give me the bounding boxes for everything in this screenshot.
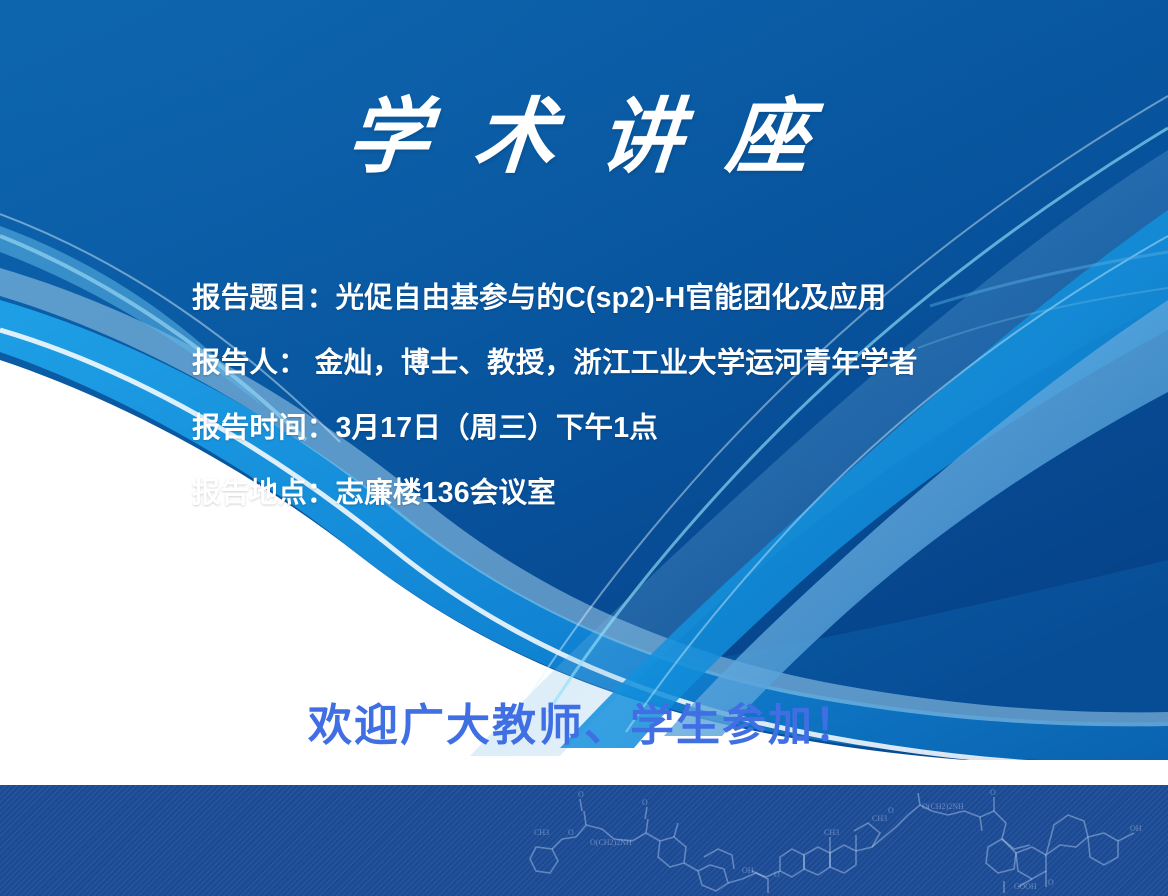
svg-text:O: O bbox=[578, 790, 584, 799]
svg-text:CH3: CH3 bbox=[824, 828, 839, 837]
svg-text:O: O bbox=[774, 870, 780, 879]
svg-text:O(CH2)2NH: O(CH2)2NH bbox=[922, 802, 964, 811]
svg-text:O: O bbox=[990, 788, 996, 797]
svg-text:CH3: CH3 bbox=[534, 828, 549, 837]
seminar-poster: 学 术 讲 座 报告题目：光促自由基参与的C(sp2)-H官能团化及应用 报告人… bbox=[0, 0, 1168, 896]
svg-text:COOH: COOH bbox=[1014, 882, 1037, 891]
page-title: 学 术 讲 座 bbox=[0, 86, 1168, 190]
chemical-structure-icon: CH3 O O O(CH2)2NH O OH O CH3 CH3 O O(CH2… bbox=[528, 785, 1168, 896]
detail-time: 报告时间：3月17日（周三）下午1点 bbox=[192, 407, 1112, 449]
svg-text:OH: OH bbox=[1130, 824, 1142, 833]
detail-topic: 报告题目：光促自由基参与的C(sp2)-H官能团化及应用 bbox=[192, 277, 1112, 319]
svg-text:O: O bbox=[888, 806, 894, 815]
seminar-details: 报告题目：光促自由基参与的C(sp2)-H官能团化及应用 报告人： 金灿，博士、… bbox=[192, 277, 1112, 514]
svg-text:O: O bbox=[642, 798, 648, 807]
detail-location: 报告地点：志廉楼136会议室 bbox=[192, 472, 1112, 514]
svg-text:O(CH2)2NH: O(CH2)2NH bbox=[590, 838, 632, 847]
footer-band: CH3 O O O(CH2)2NH O OH O CH3 CH3 O O(CH2… bbox=[0, 785, 1168, 896]
svg-text:OH: OH bbox=[742, 866, 754, 875]
svg-text:O: O bbox=[1048, 878, 1054, 887]
welcome-message: 欢迎广大教师、学生参加！ bbox=[0, 697, 1168, 755]
detail-speaker: 报告人： 金灿，博士、教授，浙江工业大学运河青年学者 bbox=[192, 342, 1112, 384]
svg-text:O: O bbox=[568, 828, 574, 837]
svg-text:CH3: CH3 bbox=[872, 814, 887, 823]
